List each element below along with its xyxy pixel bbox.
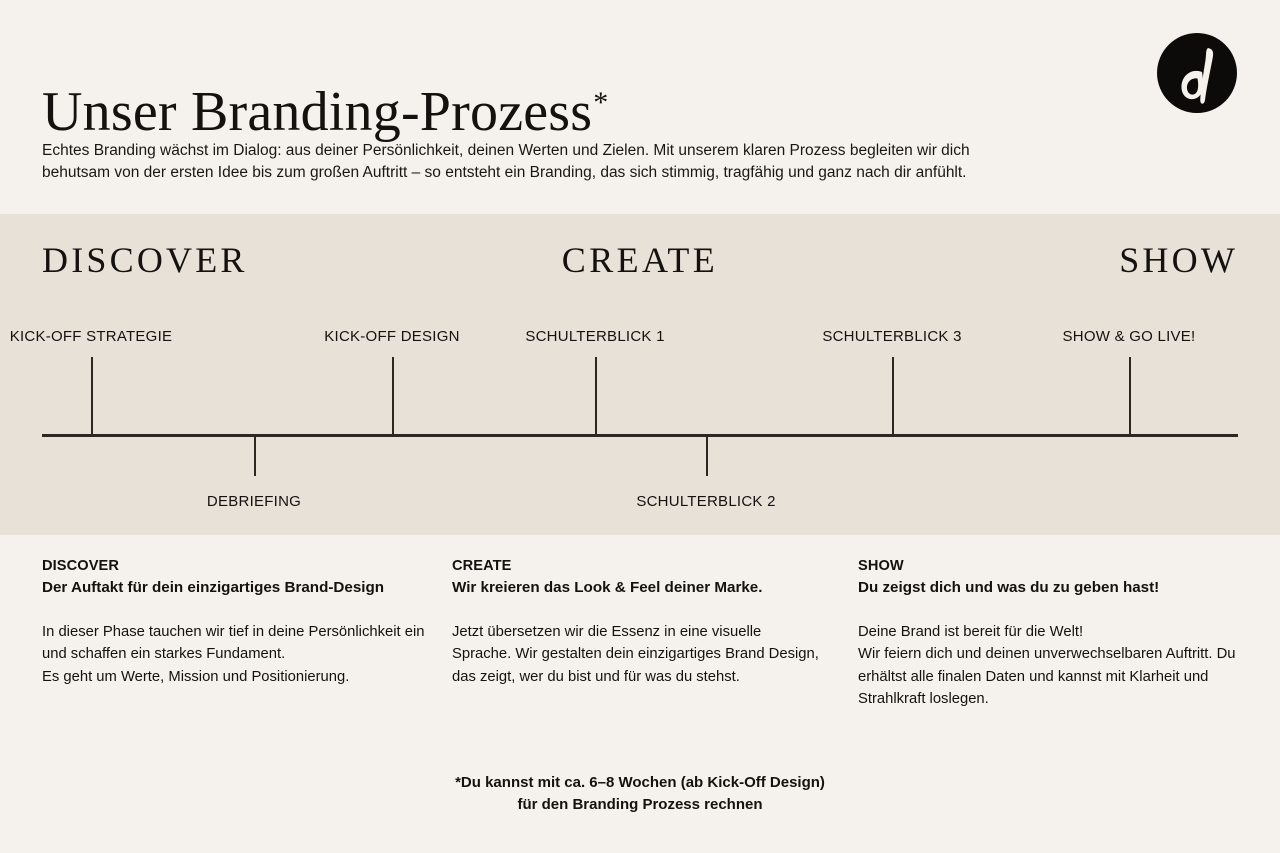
page-header: Unser Branding-Prozess* Echtes Branding …: [0, 0, 1280, 214]
timeline-label-schulterblick-2: SCHULTERBLICK 2: [636, 492, 775, 512]
timeline-label-kick-off-strategie: KICK-OFF STRATEGIE: [10, 327, 173, 347]
phase-column-create: CREATE Wir kreieren das Look & Feel dein…: [452, 556, 824, 688]
timeline-tick-schulterblick-1: [595, 357, 597, 435]
timeline-band: DISCOVER CREATE SHOW KICK-OFF STRATEGIEK…: [0, 214, 1280, 535]
timeline-tick-show-go-live: [1129, 357, 1131, 435]
brand-logo: [1156, 32, 1238, 114]
title-asterisk-marker: *: [593, 86, 608, 119]
phase-column-heading: Du zeigst dich und was du zu geben hast!: [858, 577, 1243, 599]
phase-column-eyebrow: CREATE: [452, 556, 824, 577]
timeline-label-schulterblick-3: SCHULTERBLICK 3: [822, 327, 961, 347]
phase-column-body: Deine Brand ist bereit für die Welt! Wir…: [858, 621, 1243, 710]
timeline-axis-line: [42, 434, 1238, 437]
phase-column-body: In dieser Phase tauchen wir tief in dein…: [42, 621, 432, 688]
page-title: Unser Branding-Prozess*: [42, 80, 608, 144]
phase-column-show: SHOW Du zeigst dich und was du zu geben …: [858, 556, 1243, 710]
footnote: *Du kannst mit ca. 6–8 Wochen (ab Kick-O…: [0, 772, 1280, 816]
phase-column-heading: Wir kreieren das Look & Feel deiner Mark…: [452, 577, 824, 599]
phase-column-body: Jetzt übersetzen wir die Essenz in eine …: [452, 621, 824, 688]
timeline-label-schulterblick-1: SCHULTERBLICK 1: [525, 327, 664, 347]
phase-column-eyebrow: SHOW: [858, 556, 1243, 577]
timeline-label-show-go-live: SHOW & GO LIVE!: [1063, 327, 1196, 347]
timeline-label-debriefing: DEBRIEFING: [207, 492, 301, 512]
timeline-tick-schulterblick-3: [892, 357, 894, 435]
phase-heading-show: SHOW: [1119, 238, 1238, 282]
timeline-tick-debriefing: [254, 436, 256, 476]
phase-column-heading: Der Auftakt für dein einzigartiges Brand…: [42, 577, 432, 599]
timeline-tick-schulterblick-2: [706, 436, 708, 476]
phase-description-columns: DISCOVER Der Auftakt für dein einzigarti…: [0, 556, 1280, 746]
phase-column-discover: DISCOVER Der Auftakt für dein einzigarti…: [42, 556, 432, 688]
timeline-label-kick-off-design: KICK-OFF DESIGN: [324, 327, 459, 347]
phase-column-eyebrow: DISCOVER: [42, 556, 432, 577]
timeline-tick-kick-off-design: [392, 357, 394, 435]
page-title-text: Unser Branding-Prozess: [42, 81, 592, 143]
intro-paragraph: Echtes Branding wächst im Dialog: aus de…: [42, 140, 972, 185]
timeline-tick-kick-off-strategie: [91, 357, 93, 435]
phase-heading-create: CREATE: [0, 238, 1280, 282]
